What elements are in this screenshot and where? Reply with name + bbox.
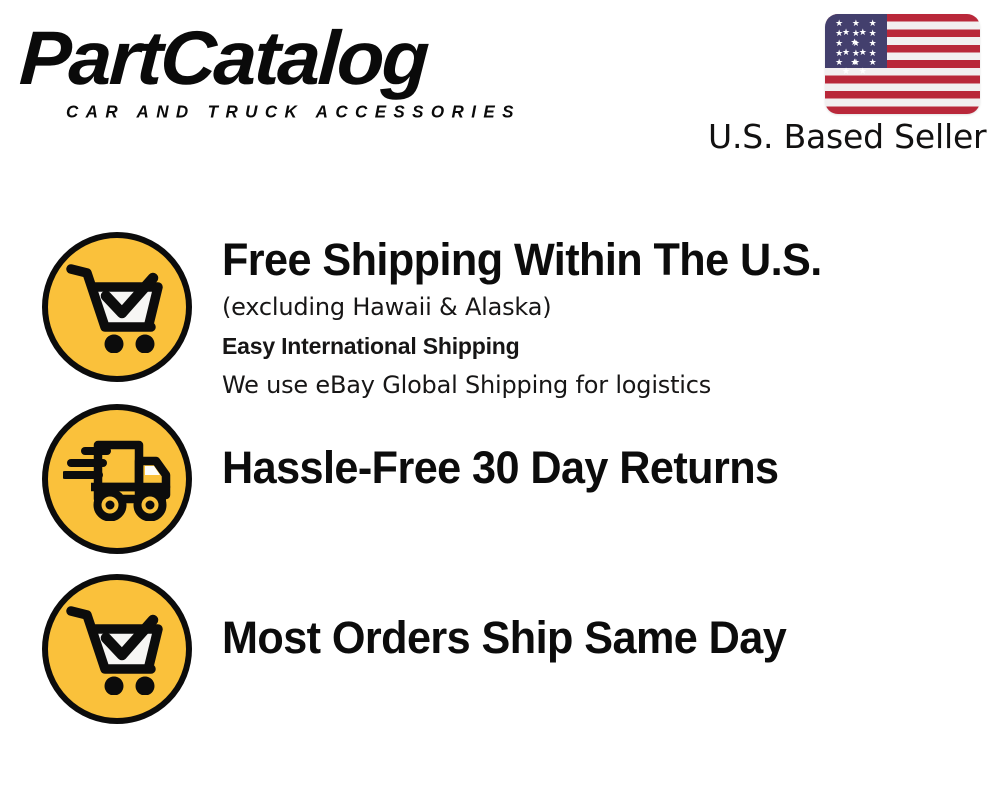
feature-heading: Free Shipping Within The U.S. (222, 232, 969, 288)
feature-text: Most Orders Ship Same Day (192, 574, 1000, 666)
feature-row: Most Orders Ship Same Day (0, 574, 1000, 744)
flag-star-row: ★ ★ ★ ★ ★ (825, 58, 887, 76)
page-header: PartCatalog CAR AND TRUCK ACCESSORIES ★ … (0, 0, 1000, 170)
feature-text: Hassle-Free 30 Day Returns (192, 404, 1000, 496)
feature-text: Free Shipping Within The U.S. (excluding… (192, 232, 1000, 404)
feature-heading: Most Orders Ship Same Day (222, 610, 969, 666)
shopping-cart-check-icon (42, 232, 192, 382)
feature-row: Hassle-Free 30 Day Returns (0, 404, 1000, 574)
shopping-cart-check-icon (42, 574, 192, 724)
feature-subtext-bold: Easy International Shipping (222, 326, 1000, 366)
us-flag-icon: ★ ★ ★ ★ ★ ★ ★ ★ ★ ★ ★ ★ ★ ★ ★ ★ ★ ★ ★ ★ … (825, 14, 980, 114)
feature-subtext: We use eBay Global Shipping for logistic… (222, 366, 1000, 404)
seller-label: U.S. Based Seller (708, 116, 976, 158)
feature-row: Free Shipping Within The U.S. (excluding… (0, 232, 1000, 404)
logo-wordmark: PartCatalog (18, 18, 429, 100)
seller-badge: ★ ★ ★ ★ ★ ★ ★ ★ ★ ★ ★ ★ ★ ★ ★ ★ ★ ★ ★ ★ … (708, 8, 988, 160)
feature-heading: Hassle-Free 30 Day Returns (222, 440, 969, 496)
flag-canton: ★ ★ ★ ★ ★ ★ ★ ★ ★ ★ ★ ★ ★ ★ ★ ★ ★ ★ ★ ★ … (825, 14, 887, 68)
feature-subtext: (excluding Hawaii & Alaska) (222, 288, 1000, 326)
feature-list: Free Shipping Within The U.S. (excluding… (0, 232, 1000, 744)
brand-logo[interactable]: PartCatalog CAR AND TRUCK ACCESSORIES (22, 18, 492, 118)
logo-tagline: CAR AND TRUCK ACCESSORIES (66, 102, 521, 123)
delivery-truck-icon (42, 404, 192, 554)
